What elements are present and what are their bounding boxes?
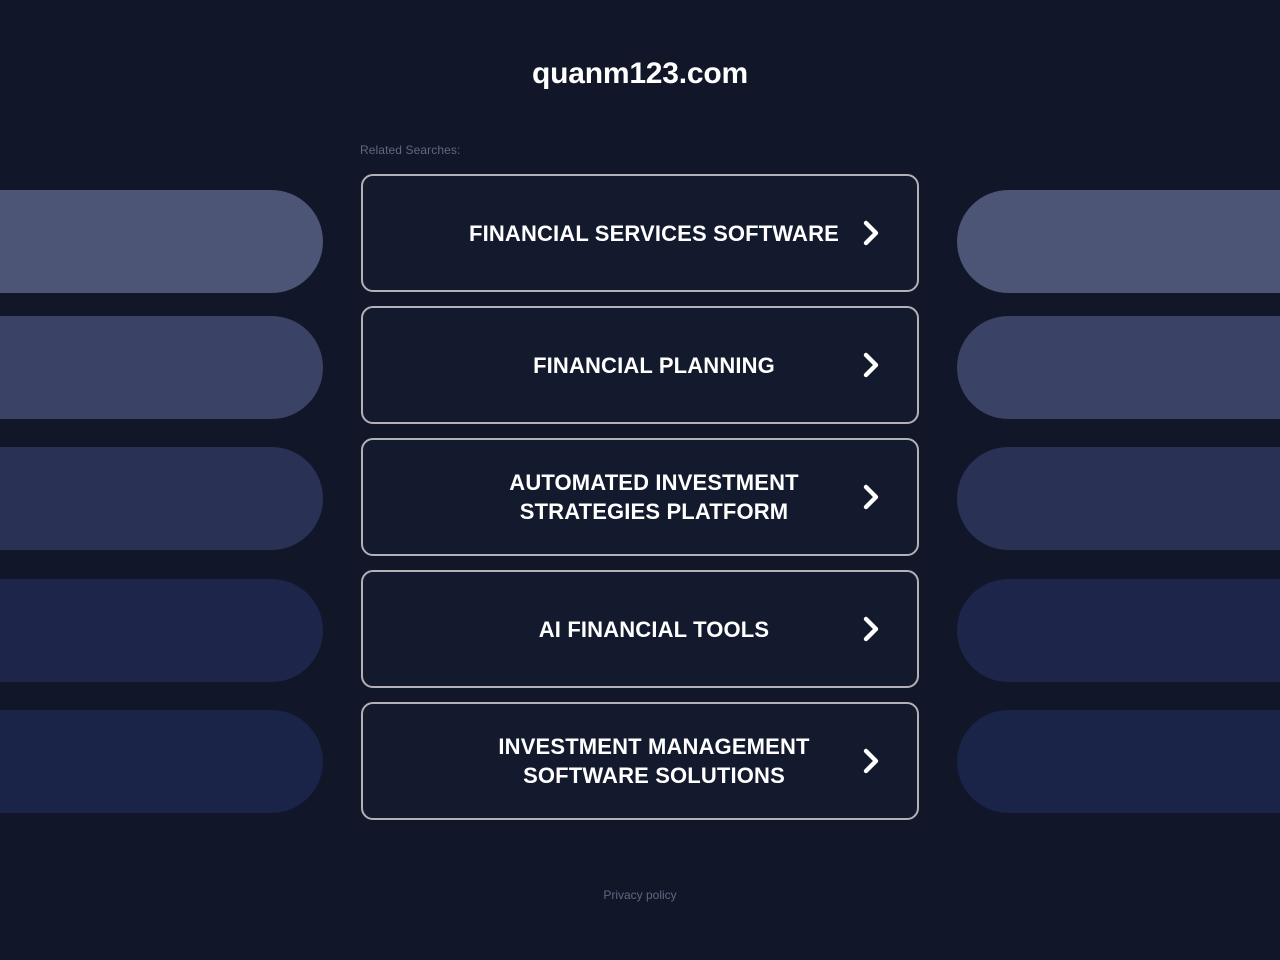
privacy-policy-link[interactable]: Privacy policy xyxy=(603,888,676,902)
related-search-label: FINANCIAL PLANNING xyxy=(420,351,860,380)
related-search-item-2[interactable]: FINANCIAL PLANNING xyxy=(361,306,919,424)
chevron-right-icon xyxy=(861,218,883,248)
chevron-right-icon xyxy=(861,614,883,644)
related-search-item-4[interactable]: AI FINANCIAL TOOLS xyxy=(361,570,919,688)
page-footer: Privacy policy xyxy=(0,886,1280,904)
related-searches-label: Related Searches: xyxy=(360,143,460,157)
chevron-right-icon xyxy=(861,350,883,380)
related-search-item-5[interactable]: INVESTMENT MANAGEMENT SOFTWARE SOLUTIONS xyxy=(361,702,919,820)
chevron-right-icon xyxy=(861,746,883,776)
related-search-label: INVESTMENT MANAGEMENT SOFTWARE SOLUTIONS xyxy=(420,732,860,790)
page-title: quanm123.com xyxy=(0,57,1280,91)
related-search-item-1[interactable]: FINANCIAL SERVICES SOFTWARE xyxy=(361,174,919,292)
related-search-label: AUTOMATED INVESTMENT STRATEGIES PLATFORM xyxy=(420,468,860,526)
related-search-label: FINANCIAL SERVICES SOFTWARE xyxy=(420,219,860,248)
chevron-right-icon xyxy=(861,482,883,512)
parked-domain-page: quanm123.com Related Searches: FINANCIAL… xyxy=(0,0,1280,960)
related-search-label: AI FINANCIAL TOOLS xyxy=(420,615,860,644)
related-search-item-3[interactable]: AUTOMATED INVESTMENT STRATEGIES PLATFORM xyxy=(361,438,919,556)
related-searches-list: FINANCIAL SERVICES SOFTWARE FINANCIAL PL… xyxy=(361,174,919,820)
